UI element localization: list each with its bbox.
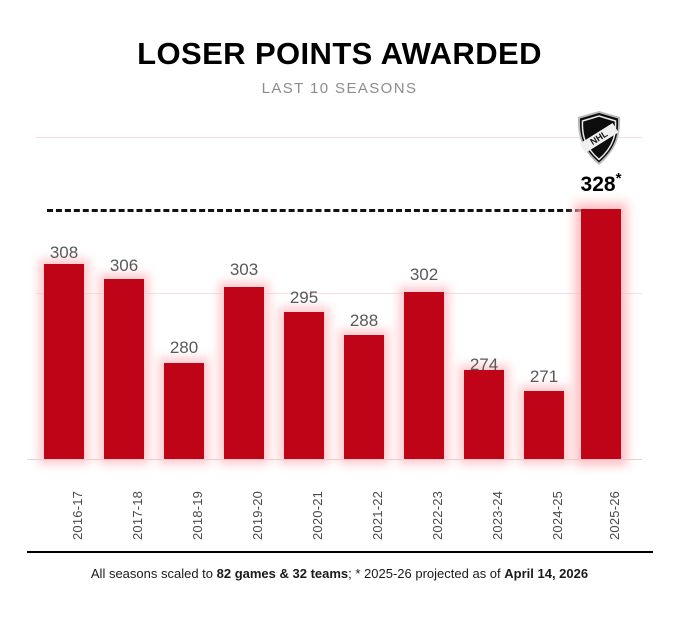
bar-value-label: 288: [334, 311, 394, 331]
bar-value-label: 280: [154, 338, 214, 358]
category-label: 2016-17: [70, 491, 85, 540]
category-label: 2018-19: [190, 491, 205, 540]
bar-value-label-highlight: 328*: [571, 173, 631, 197]
footnote-middle: ; * 2025-26 projected as of: [348, 566, 504, 581]
bar-value-label: 308: [34, 243, 94, 263]
footnote-bold-date: April 14, 2026: [504, 566, 588, 581]
bar-rect[interactable]: [224, 287, 264, 459]
bar-rect[interactable]: [344, 335, 384, 459]
category-label: 2024-25: [550, 491, 565, 540]
footnote-bold-scale: 82 games & 32 teams: [217, 566, 349, 581]
bar-rect-highlight[interactable]: [581, 209, 621, 459]
category-label: 2020-21: [310, 491, 325, 540]
bar-value-label: 271: [514, 367, 574, 387]
bar-rect[interactable]: [524, 391, 564, 459]
footer-divider: [27, 551, 653, 553]
bar-rect[interactable]: [44, 264, 84, 459]
category-label: 2022-23: [430, 491, 445, 540]
bar-value-label: 295: [274, 288, 334, 308]
bar-value-label: 303: [214, 260, 274, 280]
bar-value-label: 274: [454, 355, 514, 375]
bar-rect[interactable]: [164, 363, 204, 459]
category-label: 2017-18: [130, 491, 145, 540]
bar-rect[interactable]: [104, 279, 144, 459]
category-label: 2019-20: [250, 491, 265, 540]
bar-rect[interactable]: [284, 312, 324, 459]
footnote: All seasons scaled to 82 games & 32 team…: [0, 566, 679, 581]
projection-asterisk: *: [616, 170, 622, 187]
bar-value-number: 328: [581, 173, 616, 196]
bar-rect[interactable]: [404, 292, 444, 459]
bar-value-label: 302: [394, 265, 454, 285]
bar-rect[interactable]: [464, 370, 504, 459]
bar-series: 308 2016-17 306 2017-18 280 2018-19 303 …: [0, 0, 679, 624]
category-label: 2023-24: [490, 491, 505, 540]
bar-value-label: 306: [94, 256, 154, 276]
category-label: 2025-26: [607, 491, 622, 540]
chart-page: LOSER POINTS AWARDED LAST 10 SEASONS NHL…: [0, 0, 679, 624]
footnote-prefix: All seasons scaled to: [91, 566, 217, 581]
category-label: 2021-22: [370, 491, 385, 540]
